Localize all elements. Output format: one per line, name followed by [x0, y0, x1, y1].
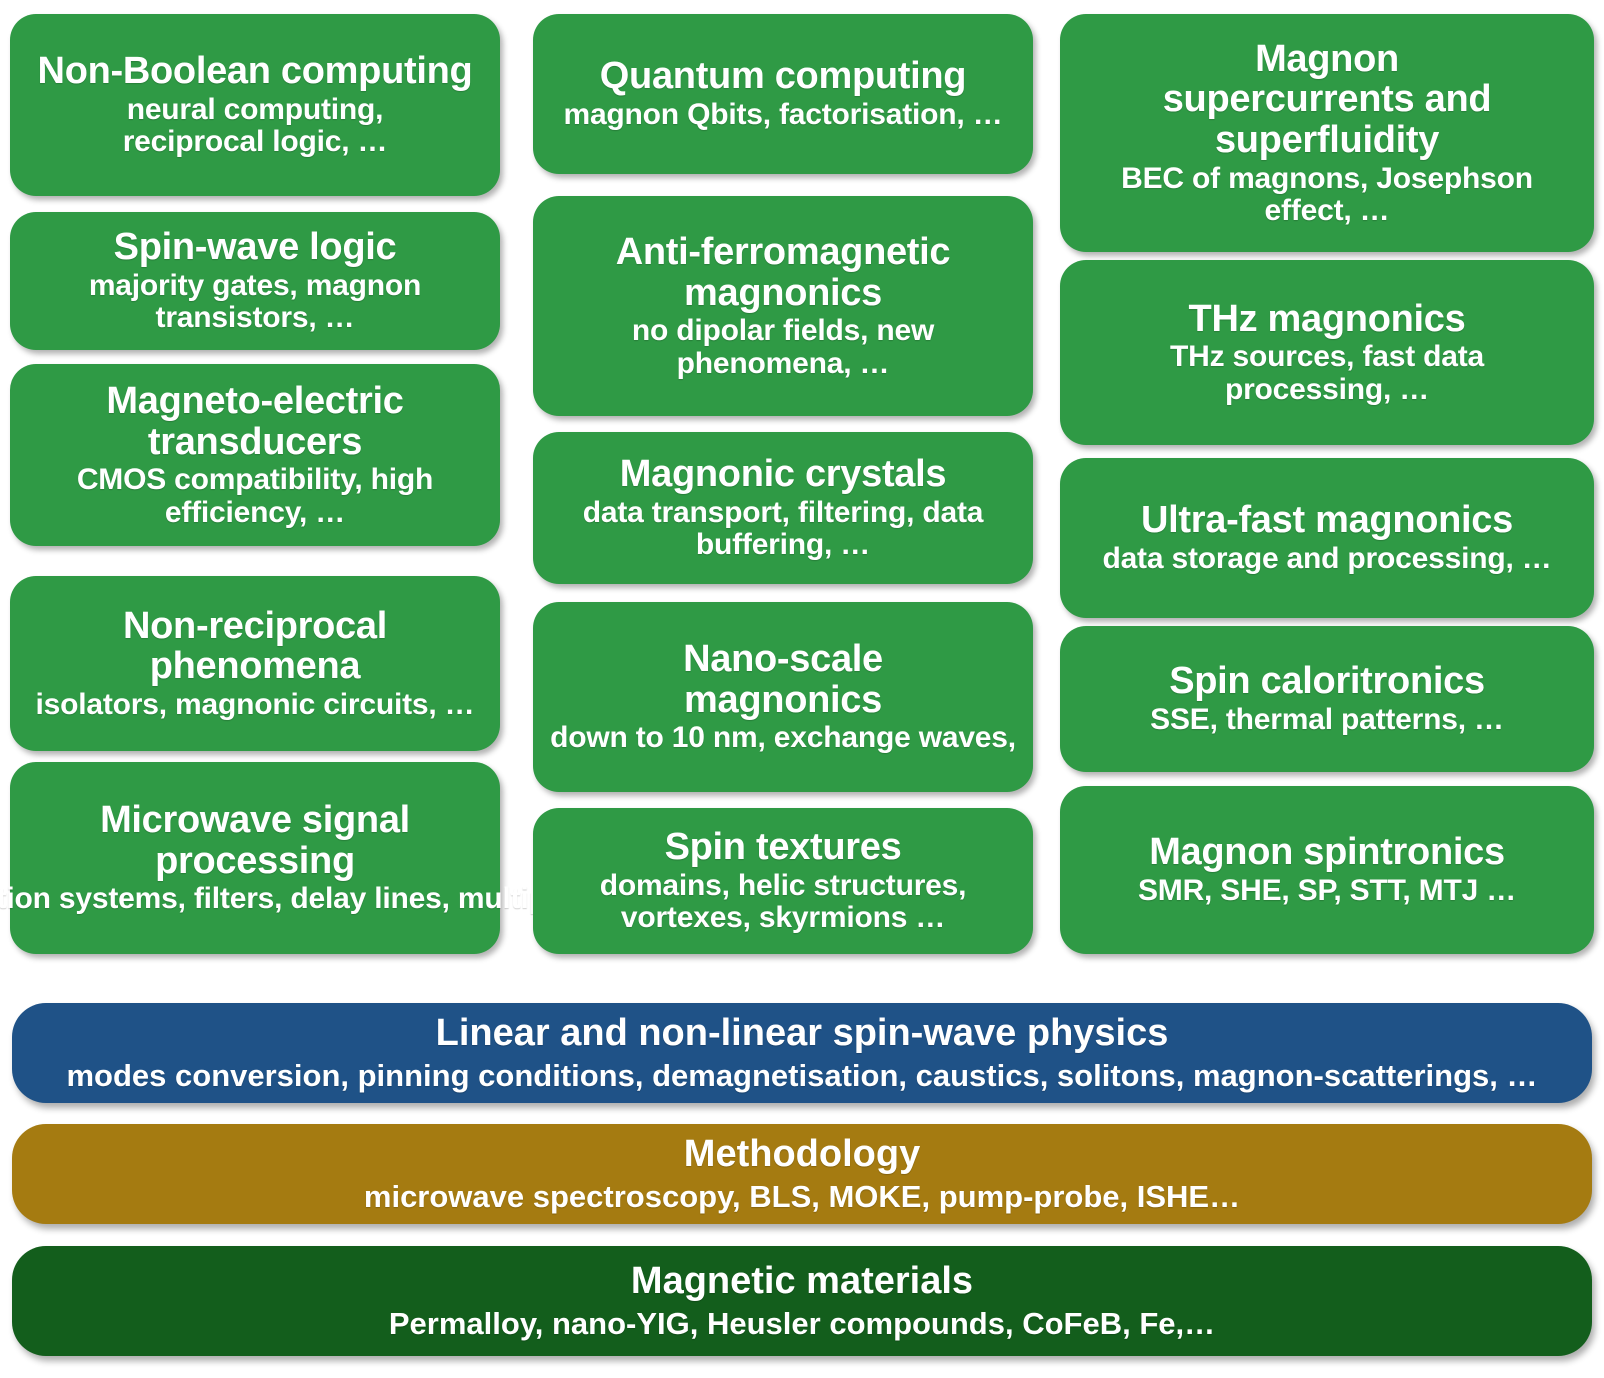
card-title: Anti-ferromagnetic magnonics: [616, 232, 951, 313]
card-title: Spin-wave logic: [114, 227, 397, 268]
card-subtitle: data storage and processing, …: [1102, 543, 1551, 575]
card-title: Spin caloritronics: [1169, 661, 1485, 702]
bar-subtitle: Permalloy, nano-YIG, Heusler compounds, …: [389, 1307, 1215, 1341]
magnonics-roadmap-diagram: Non-Boolean computing neural computing, …: [0, 0, 1604, 1378]
card-spin-textures: Spin textures domains, helic structures,…: [533, 808, 1033, 954]
card-magneto-electric-transducers: Magneto-electric transducers CMOS compat…: [10, 364, 500, 546]
card-title: Microwave signal processing: [100, 800, 410, 881]
card-title: Magnon spintronics: [1149, 832, 1505, 873]
card-subtitle: neural computing, reciprocal logic, …: [123, 94, 388, 159]
card-title: Spin textures: [665, 827, 902, 868]
card-microwave-signal-processing: Microwave signal processing communicatio…: [10, 762, 500, 954]
bar-methodology: Methodology microwave spectroscopy, BLS,…: [12, 1124, 1592, 1224]
card-subtitle: down to 10 nm, exchange waves,: [550, 722, 1016, 754]
card-title: Magnonic crystals: [620, 454, 946, 495]
bar-magnetic-materials: Magnetic materials Permalloy, nano-YIG, …: [12, 1246, 1592, 1356]
card-spin-caloritronics: Spin caloritronics SSE, thermal patterns…: [1060, 626, 1594, 772]
card-subtitle: domains, helic structures, vortexes, sky…: [600, 870, 967, 935]
card-anti-ferromagnetic-magnonics: Anti-ferromagnetic magnonics no dipolar …: [533, 196, 1033, 416]
card-non-boolean-computing: Non-Boolean computing neural computing, …: [10, 14, 500, 196]
card-magnon-spintronics: Magnon spintronics SMR, SHE, SP, STT, MT…: [1060, 786, 1594, 954]
card-ultra-fast-magnonics: Ultra-fast magnonics data storage and pr…: [1060, 458, 1594, 618]
card-title: Ultra-fast magnonics: [1141, 500, 1513, 541]
bar-subtitle: microwave spectroscopy, BLS, MOKE, pump-…: [364, 1180, 1240, 1214]
card-subtitle: CMOS compatibility, high efficiency, …: [77, 464, 433, 529]
bar-title: Magnetic materials: [631, 1261, 973, 1303]
card-quantum-computing: Quantum computing magnon Qbits, factoris…: [533, 14, 1033, 174]
bar-title: Linear and non-linear spin-wave physics: [436, 1013, 1169, 1055]
card-nano-scale-magnonics: Nano-scale magnonics down to 10 nm, exch…: [533, 602, 1033, 792]
card-subtitle: THz sources, fast data processing, …: [1170, 341, 1484, 406]
card-non-reciprocal-phenomena: Non-reciprocal phenomena isolators, magn…: [10, 576, 500, 751]
card-title: THz magnonics: [1189, 299, 1466, 340]
bar-linear-and-non-linear-spin-wave-physics: Linear and non-linear spin-wave physics …: [12, 1003, 1592, 1103]
card-title: Non-reciprocal phenomena: [123, 606, 387, 687]
card-title: Nano-scale magnonics: [683, 639, 883, 720]
card-thz-magnonics: THz magnonics THz sources, fast data pro…: [1060, 260, 1594, 445]
card-title: Magneto-electric transducers: [106, 381, 403, 462]
card-spin-wave-logic: Spin-wave logic majority gates, magnon t…: [10, 212, 500, 350]
card-subtitle: BEC of magnons, Josephson effect, …: [1121, 163, 1533, 228]
card-subtitle: SMR, SHE, SP, STT, MTJ …: [1138, 875, 1516, 907]
bar-title: Methodology: [684, 1134, 920, 1176]
card-subtitle: isolators, magnonic circuits, …: [36, 689, 475, 721]
bar-subtitle: modes conversion, pinning conditions, de…: [66, 1059, 1537, 1093]
card-title: Non-Boolean computing: [38, 51, 473, 92]
card-subtitle: data transport, filtering, data bufferin…: [583, 497, 984, 562]
card-magnonic-crystals: Magnonic crystals data transport, filter…: [533, 432, 1033, 584]
card-subtitle: SSE, thermal patterns, …: [1150, 704, 1504, 736]
card-subtitle: majority gates, magnon transistors, …: [89, 270, 421, 335]
card-subtitle: no dipolar fields, new phenomena, …: [632, 315, 934, 380]
card-title: Quantum computing: [600, 56, 966, 97]
card-subtitle: magnon Qbits, factorisation, …: [563, 99, 1002, 131]
card-title: Magnon supercurrents and superfluidity: [1163, 39, 1492, 161]
card-magnon-supercurrents-and-superfluidity: Magnon supercurrents and superfluidity B…: [1060, 14, 1594, 252]
